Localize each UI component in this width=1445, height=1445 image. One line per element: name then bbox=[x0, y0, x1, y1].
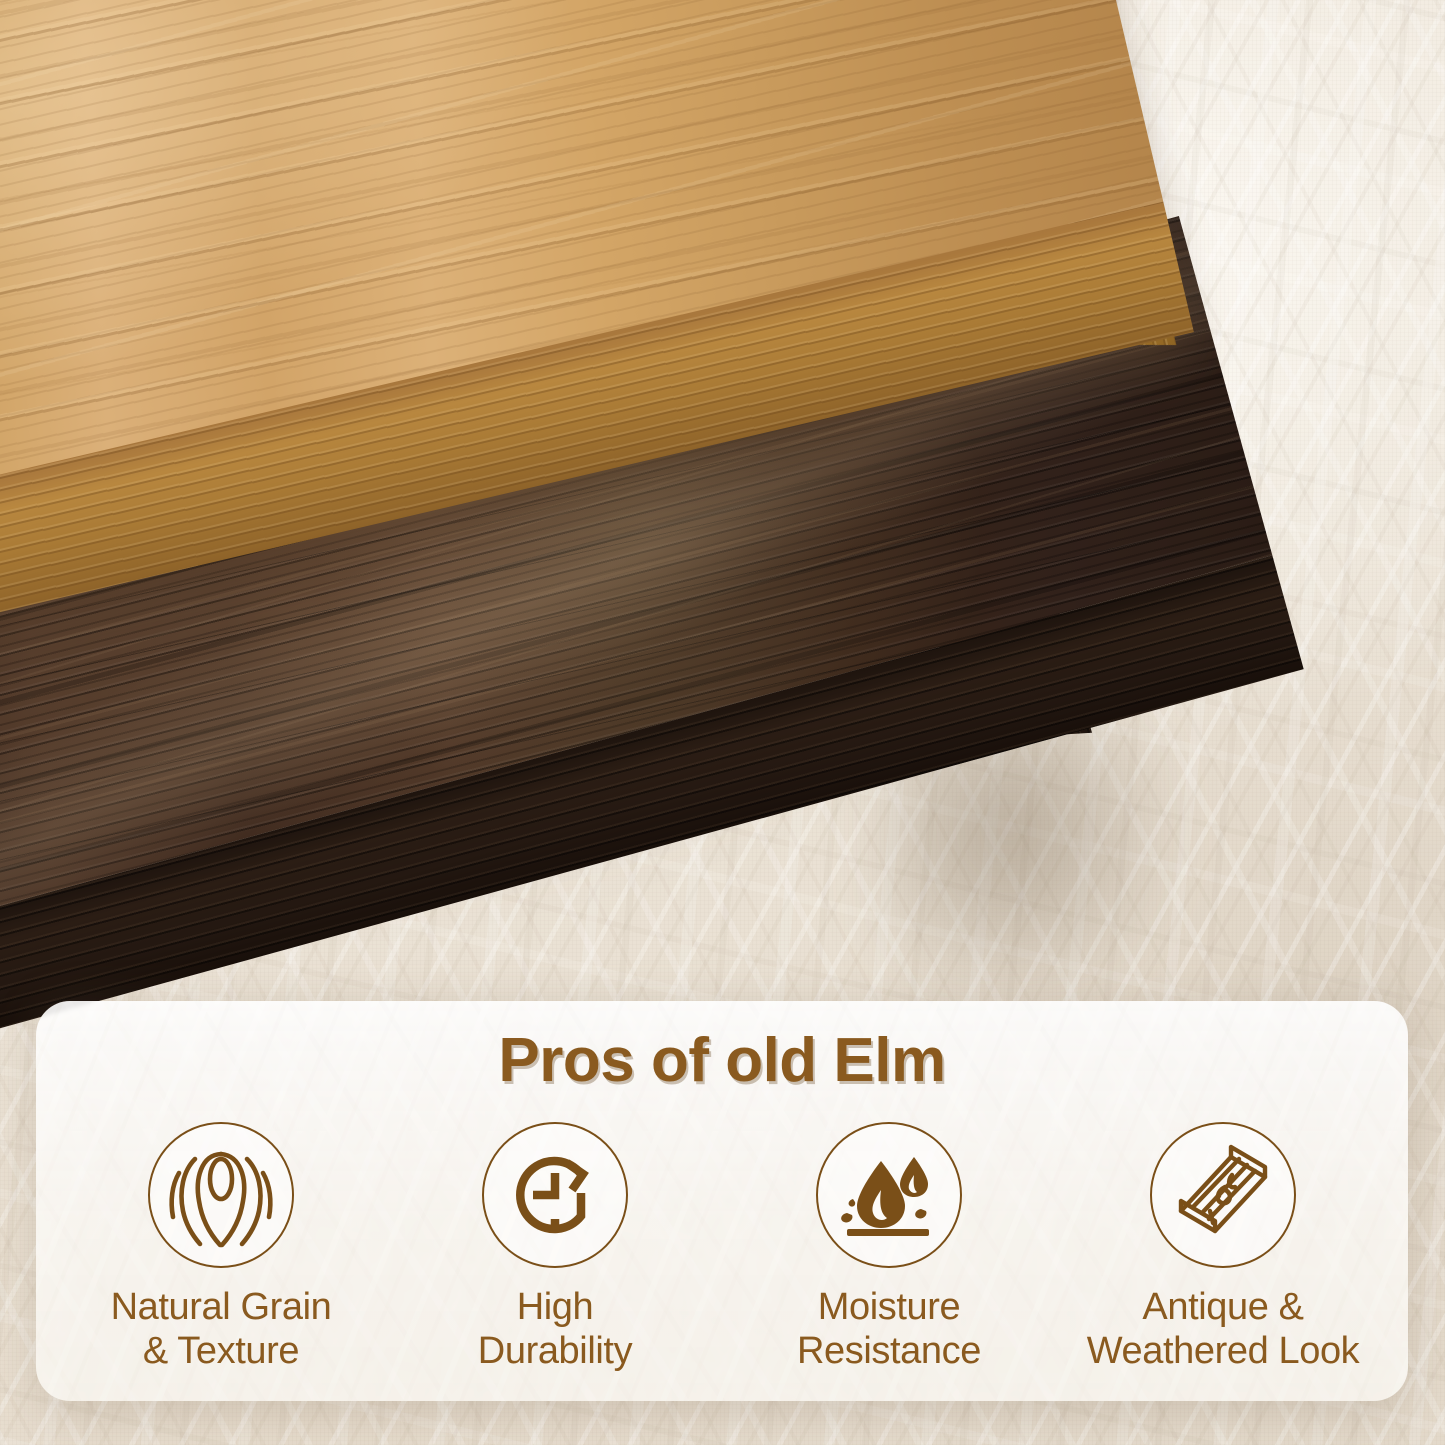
feature-label: Antique & Weathered Look bbox=[1087, 1285, 1360, 1373]
feature-high-durability: High Durability bbox=[388, 1122, 722, 1373]
product-image-scene: Pros of old Elm Natural Grain & Texture bbox=[0, 0, 1445, 1445]
card-title: Pros of old Elm bbox=[36, 1025, 1408, 1096]
water-droplets-icon bbox=[816, 1122, 962, 1268]
feature-antique-weathered: Antique & Weathered Look bbox=[1056, 1122, 1390, 1373]
feature-moisture-resistance: Moisture Resistance bbox=[722, 1122, 1056, 1373]
feature-list: Natural Grain & Texture High Durability bbox=[36, 1122, 1408, 1373]
feature-natural-grain: Natural Grain & Texture bbox=[54, 1122, 388, 1373]
wood-grain-icon bbox=[148, 1122, 294, 1268]
feature-label: Natural Grain & Texture bbox=[111, 1285, 332, 1373]
info-card: Pros of old Elm Natural Grain & Texture bbox=[36, 1001, 1408, 1401]
feature-label: High Durability bbox=[478, 1285, 632, 1373]
clock-refresh-icon bbox=[482, 1122, 628, 1268]
feature-label: Moisture Resistance bbox=[797, 1285, 981, 1373]
wood-plank-icon bbox=[1150, 1122, 1296, 1268]
